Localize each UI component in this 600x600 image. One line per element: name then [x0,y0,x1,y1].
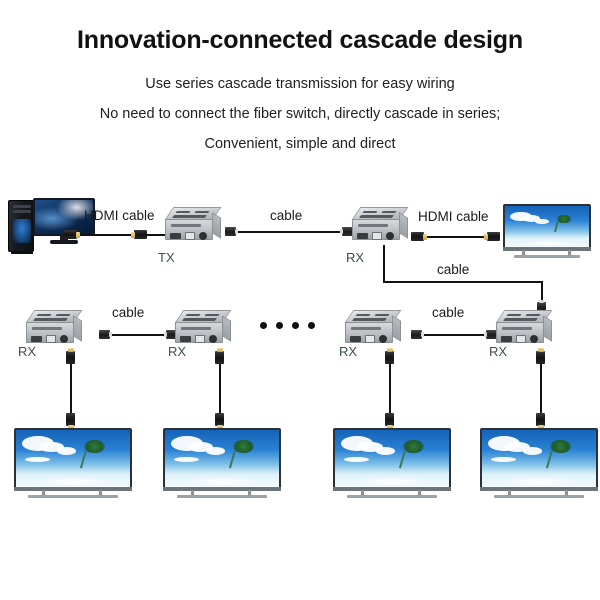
ellipsis-dot [308,322,315,329]
label-hdmi-cable-left: HDMI cable [84,208,155,223]
subtitle-line-3: Convenient, simple and direct [0,136,600,152]
hdmi-connector-body [487,232,500,241]
diagram-canvas: Innovation-connected cascade design Use … [0,0,600,600]
rj45-connector-tip [164,332,167,337]
hdmi-connector [215,348,224,364]
extender-vent-slot [381,211,396,213]
monitor-stand-base [50,240,78,244]
hdmi-connector-body [66,351,75,364]
extender-vent-slot [194,211,209,213]
label-rx-3: RX [339,344,357,359]
branch-cable-segment-down [383,245,385,283]
tv-stand [347,495,437,498]
extender-power-port [60,335,68,343]
rj45-connector-tip [340,229,343,234]
extender-vent-slot [36,314,51,316]
label-cable-rx1-rx2: cable [112,305,144,320]
tv-bezel [163,487,281,491]
extender-front-face [26,322,74,343]
extender-power-port [386,232,394,240]
extender-brand-strip [171,224,201,227]
tv-wallpaper-palm [550,440,571,453]
tv-wallpaper-palm [84,440,105,453]
label-rx-4: RX [489,344,507,359]
rj45-connector-tip [109,332,112,337]
tv-panel [14,428,132,491]
hdmi-connector [131,230,147,239]
extender-side-face [392,315,401,342]
extender-front-face [175,322,223,343]
tv-wallpaper-palm [403,440,424,453]
tv-wallpaper-cloud [535,219,548,224]
branch-cable-segment-across [383,281,543,283]
extender-vent-slot [359,215,394,218]
extender-rj45-port [185,232,195,240]
extender-front-face [165,219,213,240]
extender-rx-top [352,207,408,241]
tv-display-1 [14,428,132,500]
extender-vent-slot [33,318,68,321]
extender-vent-slot [506,314,521,316]
extender-rx-4 [496,310,552,344]
hdmi-connector-gold-tip [538,348,544,352]
hdmi-connector [411,232,427,241]
tv-bezel [503,247,591,251]
subtitle-line-1: Use series cascade transmission for easy… [0,76,600,92]
tv-display-3 [333,428,451,500]
cascade-ellipsis [260,322,315,329]
ellipsis-dot [276,322,283,329]
extender-vent-slot [352,318,387,321]
rj45-connector-tip [421,332,424,337]
tv-stand [28,495,118,498]
extender-tx [165,207,221,241]
extender-vent-slot [362,211,377,213]
network-cable-rx1-to-rx2 [111,334,171,336]
extender-side-face [222,315,231,342]
extender-rj45-port [195,335,205,343]
rj45-connector-tip [235,229,238,234]
tv-stand [514,255,581,258]
tv-bezel [480,487,598,491]
hdmi-connector [215,413,224,429]
extender-rj45-port [365,335,375,343]
label-rx-top: RX [346,250,364,265]
extender-vent-slot [172,215,207,218]
extender-side-face [212,212,221,239]
label-cable-tx-rx: cable [270,208,302,223]
hdmi-connector-body [536,351,545,364]
extender-rx-3 [345,310,401,344]
extender-front-face [345,322,393,343]
tv-wallpaper-cloud [523,447,542,455]
tv-wallpaper-palm [233,440,254,453]
ellipsis-dot [292,322,299,329]
hdmi-connector-gold-tip [484,234,488,240]
hdmi-connector [536,348,545,364]
label-rx-1: RX [18,344,36,359]
extender-vent-slot [355,314,370,316]
label-tx: TX [158,250,175,265]
extender-hdmi-port [357,233,368,239]
hdmi-connector-gold-tip [131,232,135,238]
subtitle-line-2: No need to connect the fiber switch, dir… [0,106,600,122]
extender-power-port [209,335,217,343]
tv-wallpaper-cloud [174,457,199,462]
hdmi-connector [66,348,75,364]
hdmi-connector-gold-tip [387,348,393,352]
hdmi-connector [536,413,545,429]
tv-panel [333,428,451,491]
tv-wallpaper-cloud [376,447,395,455]
tv-stand [494,495,584,498]
hdmi-connector [66,413,75,429]
tv-panel [503,204,591,251]
hdmi-connector-body [385,351,394,364]
pc-drive-bay [13,210,31,213]
label-cable-branch: cable [437,262,469,277]
extender-rx-2 [175,310,231,344]
extender-power-port [379,335,387,343]
tv-display-4 [480,428,598,500]
extender-vent-slot [175,211,190,213]
extender-brand-strip [32,327,62,330]
network-cable-rx3-to-rx4 [423,334,491,336]
hdmi-connector [385,413,394,429]
extender-vent-slot [185,314,200,316]
extender-front-face [496,322,544,343]
tv-wallpaper-cloud [491,457,516,462]
tv-wallpaper-palm [557,215,570,224]
extender-power-port [530,335,538,343]
label-cable-rx3-rx4: cable [432,305,464,320]
extender-hdmi-port [350,336,361,342]
extender-vent-slot [525,314,540,316]
label-rx-2: RX [168,344,186,359]
hdmi-cable-pc-to-tx [77,234,167,236]
desktop-pc-tower [8,200,34,252]
extender-side-face [543,315,552,342]
extender-hdmi-port [170,233,181,239]
extender-hdmi-port [501,336,512,342]
hdmi-connector-gold-tip [217,348,223,352]
extender-vent-slot [374,314,389,316]
tv-panel [480,428,598,491]
extender-side-face [73,315,82,342]
pc-front-panel-glow [13,219,31,243]
hdmi-connector [484,232,500,241]
rj45-connector [99,330,112,339]
rj45-connector-tip [484,332,487,337]
extender-vent-slot [503,318,538,321]
extender-brand-strip [181,327,211,330]
hdmi-connector-body [215,351,224,364]
ellipsis-dot [260,322,267,329]
extender-hdmi-port [180,336,191,342]
extender-vent-slot [55,314,70,316]
network-cable-tx-to-rx [237,231,347,233]
tv-wallpaper-cloud [57,447,76,455]
extender-rj45-port [372,232,382,240]
hdmi-connector [64,230,80,239]
pc-drive-bay [13,205,31,208]
rj45-connector-tip [539,300,544,303]
tv-display-top [503,204,591,260]
rj45-connector [411,330,424,339]
hdmi-connector-gold-tip [423,234,427,240]
hdmi-connector-body [134,230,147,239]
label-hdmi-cable-right: HDMI cable [418,209,489,224]
extender-vent-slot [182,318,217,321]
extender-front-face [352,219,400,240]
extender-power-port [199,232,207,240]
extender-brand-strip [502,327,532,330]
hdmi-connector-gold-tip [68,348,74,352]
extender-vent-slot [204,314,219,316]
tv-stand [177,495,267,498]
hdmi-connector [385,348,394,364]
extender-rj45-port [516,335,526,343]
tv-bezel [333,487,451,491]
extender-rj45-port [46,335,56,343]
extender-rx-1 [26,310,82,344]
tv-wallpaper-cloud [344,457,369,462]
rj45-connector [225,227,238,236]
tv-wallpaper-cloud [25,457,50,462]
hdmi-connector-gold-tip [76,232,80,238]
page-title: Innovation-connected cascade design [0,26,600,55]
tv-panel [163,428,281,491]
extender-hdmi-port [31,336,42,342]
tv-wallpaper-cloud [206,447,225,455]
extender-side-face [399,212,408,239]
extender-brand-strip [351,327,381,330]
extender-brand-strip [358,224,388,227]
pc-base [11,251,33,254]
tv-display-2 [163,428,281,500]
tv-bezel [14,487,132,491]
